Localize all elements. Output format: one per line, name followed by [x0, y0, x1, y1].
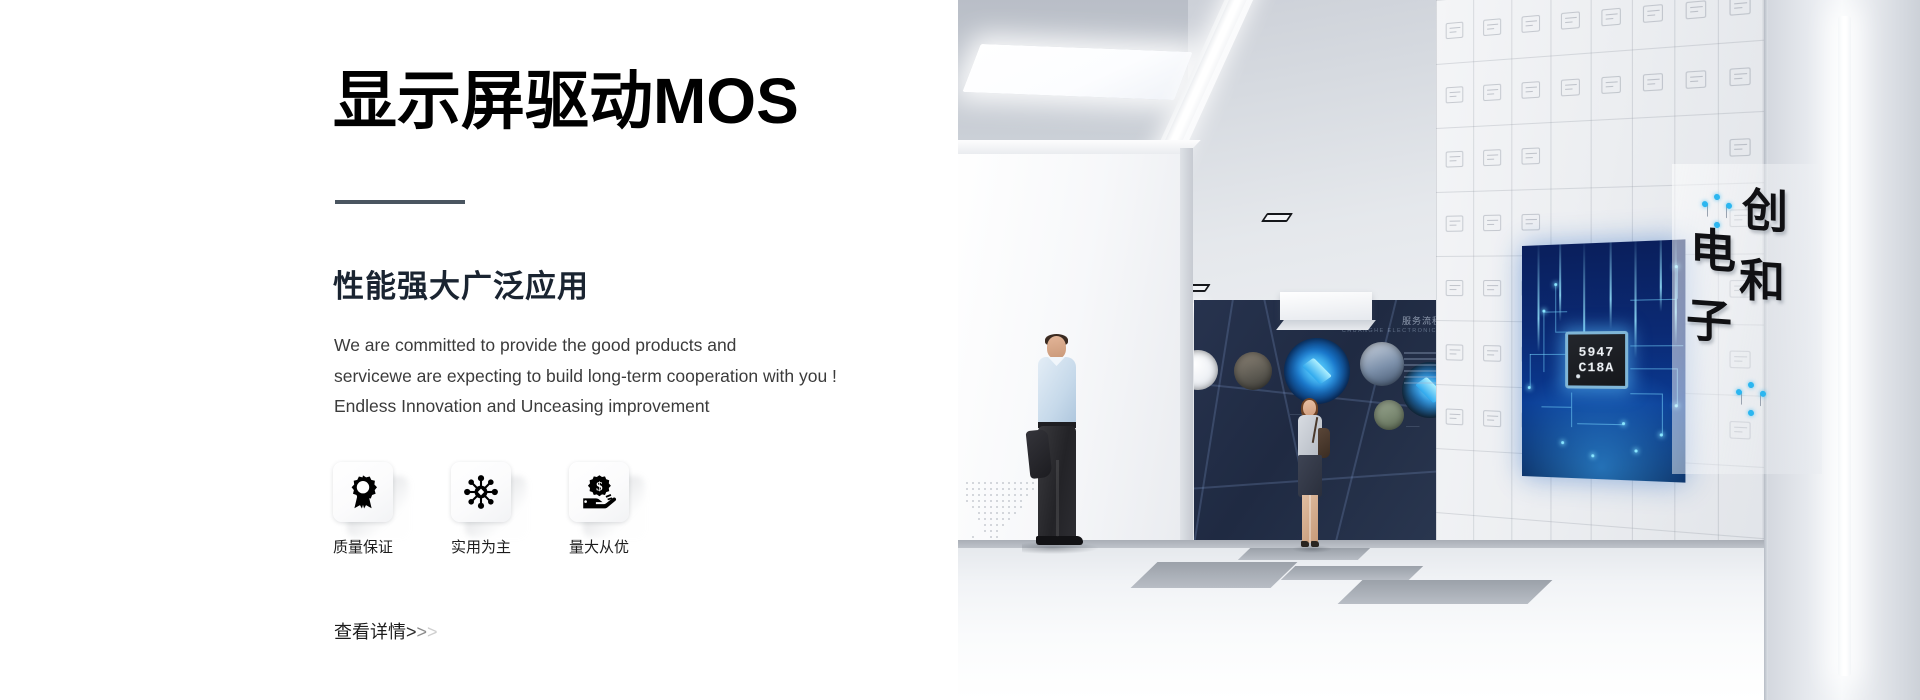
hexagon-outline [1707, 198, 1727, 223]
circuit-trace [1630, 368, 1677, 369]
data-rain-streak [1610, 239, 1612, 329]
view-details-label: 查看详情 [334, 620, 406, 644]
tile-glyph-icon [1729, 0, 1750, 16]
floor-inlay-strip [1281, 566, 1423, 580]
data-rain-streak [1559, 239, 1560, 321]
chip-pin1-dot-icon [1576, 374, 1580, 378]
circuit-trace [1530, 354, 1567, 355]
shoe [1301, 541, 1309, 547]
circuit-node [1622, 422, 1625, 425]
dress-shirt [1038, 357, 1076, 425]
wall-circle-chip-graphic [1284, 338, 1350, 404]
description-line-2: servicewe are expecting to build long-te… [334, 361, 894, 392]
signage-char-chuang: 创 [1742, 186, 1788, 235]
company-signage: 创 和 电 子 [1684, 184, 1812, 454]
person-businessman [1026, 336, 1088, 556]
circle-caption: ——— [1406, 424, 1420, 429]
shoe [1311, 541, 1319, 547]
navy-wall-text-block [1404, 352, 1438, 388]
circuit-node [1561, 441, 1564, 444]
svg-text:$: $ [596, 478, 603, 493]
signage-char-zi: 子 [1686, 296, 1732, 345]
showroom-photo: 服务流程 CHUANGHE ELECTRONICS ——— ——— [958, 0, 1920, 700]
chip-glow-icon [1302, 358, 1332, 385]
feature-label: 量大从优 [569, 538, 629, 558]
head [1303, 400, 1316, 416]
tile-glyph-icon [1522, 147, 1541, 164]
circuit-node [1554, 283, 1557, 286]
title-divider [335, 200, 465, 204]
circuit-node [1542, 310, 1545, 313]
description-line-3: Endless Innovation and Unceasing improve… [334, 391, 894, 422]
circuit-trace [1530, 354, 1531, 388]
view-details-link[interactable]: 查看详情>>> [334, 620, 438, 644]
feature-tile: $ [569, 462, 629, 522]
tile-glyph-icon [1446, 22, 1464, 40]
circuit-node [1528, 386, 1531, 389]
network-hub-icon [463, 474, 499, 510]
chip-label-line-2: C18A [1579, 360, 1615, 375]
feature-list: 质量保证 [333, 462, 629, 522]
feature-tile-wrap [451, 462, 511, 522]
tile-glyph-icon [1686, 0, 1707, 19]
tile-glyph-icon [1483, 345, 1501, 362]
feature-item-quality[interactable]: 质量保证 [333, 462, 393, 522]
tile-glyph-icon [1522, 81, 1541, 99]
feature-item-bulk-discount[interactable]: $ 量大从优 [569, 462, 629, 522]
subheading: 性能强大广泛应用 [333, 267, 589, 307]
shoulder-bag [1318, 428, 1330, 458]
description-paragraph: We are committed to provide the good pro… [334, 330, 894, 422]
tile-glyph-icon [1561, 11, 1580, 29]
skylight-panel [962, 44, 1192, 100]
tile-glyph-icon [1643, 73, 1663, 91]
tile-glyph-icon [1483, 410, 1501, 427]
feature-label: 质量保证 [333, 538, 393, 558]
hexagon-outline [1741, 386, 1761, 411]
tile-glyph-icon [1483, 280, 1501, 296]
tile-glyph-icon [1446, 344, 1464, 361]
circuit-trace [1630, 299, 1677, 301]
feature-tile-wrap [333, 462, 393, 522]
chevron-right-icon-3: > [427, 620, 438, 644]
tile-glyph-icon [1729, 138, 1750, 157]
tile-glyph-icon [1522, 214, 1541, 231]
promo-banner: 显示屏驱动MOS 性能强大广泛应用 We are committed to pr… [0, 0, 1920, 700]
tile-glyph-icon [1446, 280, 1464, 296]
text-panel: 显示屏驱动MOS 性能强大广泛应用 We are committed to pr… [0, 0, 958, 700]
feature-tile-wrap: $ [569, 462, 629, 522]
tile-glyph-icon [1446, 86, 1464, 103]
circuit-trace [1543, 312, 1544, 372]
award-medal-icon [345, 474, 381, 510]
wall-circle-photo [1374, 400, 1404, 430]
tile-glyph-icon [1483, 215, 1501, 232]
tile-glyph-icon [1446, 151, 1464, 168]
skirt [1298, 455, 1322, 497]
tile-glyph-icon [1522, 15, 1541, 33]
ceiling-soffit-box [1280, 292, 1372, 320]
tile-glyph-icon [1446, 215, 1464, 231]
left-partition-edge [1180, 148, 1193, 548]
tile-glyph-icon [1601, 76, 1621, 94]
page-title: 显示屏驱动MOS [333, 62, 799, 140]
mcu-chip-graphic: 5947 C18A [1565, 331, 1628, 389]
wall-circle-photo [1234, 352, 1272, 390]
data-rain-streak [1660, 239, 1662, 311]
chip-label-line-1: 5947 [1579, 344, 1615, 360]
circuit-node [1660, 433, 1663, 436]
tile-glyph-icon [1483, 84, 1501, 101]
feature-tile [451, 462, 511, 522]
hand-money-icon: $ [581, 474, 617, 510]
signage-char-he: 和 [1739, 256, 1785, 305]
tile-glyph-icon [1446, 408, 1464, 425]
circuit-trace [1571, 393, 1572, 428]
tile-glyph-icon [1483, 18, 1501, 36]
tile-glyph-icon [1483, 149, 1501, 166]
feature-label: 实用为主 [451, 538, 511, 558]
tile-glyph-icon [1686, 70, 1707, 89]
description-line-1: We are committed to provide the good pro… [334, 330, 894, 361]
circuit-trace [1555, 285, 1556, 332]
tile-glyph-icon [1729, 67, 1750, 86]
circuit-trace [1577, 423, 1624, 425]
circuit-trace [1541, 406, 1571, 407]
data-rain-streak [1538, 241, 1539, 352]
circuit-trace [1630, 393, 1662, 394]
person-woman [1290, 400, 1330, 552]
circuit-node [1591, 454, 1594, 457]
leg-split [1056, 460, 1059, 538]
tile-glyph-icon [1643, 4, 1663, 23]
shoe [1057, 536, 1083, 545]
wall-circle-photo [1360, 342, 1404, 386]
chevron-right-icon-1: > [406, 620, 417, 644]
tile-glyph-icon [1561, 79, 1580, 97]
map-route-line [1194, 300, 1235, 548]
head [1047, 336, 1066, 359]
feature-item-practical[interactable]: 实用为主 [451, 462, 511, 522]
tile-glyph-icon [1601, 8, 1621, 27]
leg-split [1309, 495, 1311, 543]
chevron-right-icon-2: > [417, 620, 428, 644]
circuit-display-screen: 5947 C18A [1522, 239, 1685, 482]
left-partition-top [958, 140, 1201, 154]
circuit-trace [1662, 394, 1663, 436]
hexagon-molecule-icon [1736, 381, 1766, 417]
signage-char-dian: 电 [1690, 226, 1736, 275]
feature-tile [333, 462, 393, 522]
floor-inlay-strip [1338, 580, 1553, 604]
circuit-node [1634, 449, 1637, 452]
vertical-light-strip [1838, 16, 1851, 676]
floor-inlay-strip [1131, 562, 1298, 588]
